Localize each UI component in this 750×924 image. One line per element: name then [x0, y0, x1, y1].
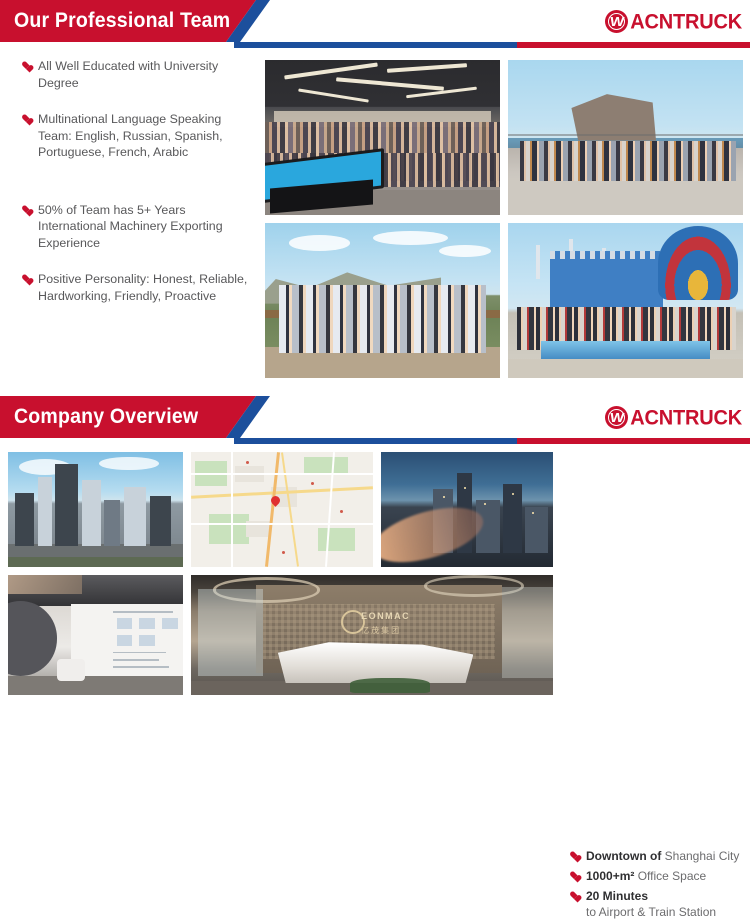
fact-sub: to Airport & Train Station — [586, 904, 716, 920]
acntruck-logo: W ACNTRUCK — [605, 406, 742, 429]
shanghai-skyline-daytime-photo — [8, 452, 183, 567]
team-section-title: Our Professional Team — [14, 0, 230, 42]
company-reception-lobby-photo: EONMAC 亿茂集团 — [191, 575, 553, 695]
company-section-title: Company Overview — [14, 396, 198, 438]
banner-rule-red — [517, 42, 750, 48]
list-item-label: All Well Educated with University Degree — [38, 58, 250, 91]
list-item: All Well Educated with University Degree — [22, 58, 250, 91]
team-group-seaside-rock-photo — [508, 60, 743, 215]
list-item: 50% of Team has 5+ Years International M… — [22, 202, 250, 252]
heart-bullet-icon — [570, 872, 579, 881]
team-photo-grid — [265, 60, 743, 385]
fact-lead: 20 Minutes — [586, 889, 648, 903]
heart-bullet-icon — [570, 852, 579, 861]
company-showroom-interior-photo — [8, 575, 183, 695]
list-item: Positive Personality: Honest, Reliable, … — [22, 271, 250, 304]
list-item: Downtown of Shanghai City — [570, 848, 748, 864]
list-item: Multinational Language Speaking Team: En… — [22, 111, 250, 161]
team-group-theme-park-photo — [508, 223, 743, 378]
company-overview-section: Company Overview W ACNTRUCK — [0, 396, 750, 448]
team-group-mountain-deck-photo — [265, 223, 500, 378]
acntruck-emblem-icon: W — [605, 10, 628, 33]
heart-bullet-icon — [22, 275, 31, 284]
office-location-map-photo — [191, 452, 373, 567]
emblem-letter: W — [609, 15, 625, 28]
banner-rule-gap — [0, 42, 234, 48]
team-bullet-list: All Well Educated with University Degree… — [22, 58, 250, 324]
eonmac-brand-name: EONMAC — [361, 611, 410, 621]
banner-rule-red — [517, 438, 750, 444]
acntruck-logo-text: ACNTRUCK — [630, 407, 742, 428]
acntruck-emblem-icon: W — [605, 406, 628, 429]
heart-bullet-icon — [22, 115, 31, 124]
list-item-label: 50% of Team has 5+ Years International M… — [38, 202, 250, 252]
fact-rest: Office Space — [638, 869, 706, 883]
fact-lead: 1000+m² — [586, 869, 638, 883]
heart-bullet-icon — [22, 206, 31, 215]
list-item-label: 20 Minutesto Airport & Train Station — [586, 888, 716, 920]
list-item: 1000+m² Office Space — [570, 868, 748, 884]
acntruck-logo-text: ACNTRUCK — [630, 11, 742, 32]
eonmac-brand-name-cn: 亿茂集团 — [361, 625, 401, 636]
company-photo-grid: EONMAC 亿茂集团 — [8, 452, 553, 697]
team-group-office-pool-table-photo — [265, 60, 500, 215]
company-facts-list: Downtown of Shanghai City 1000+m² Office… — [570, 848, 748, 924]
fact-rest: Shanghai City — [665, 849, 740, 863]
list-item-label: Positive Personality: Honest, Reliable, … — [38, 271, 250, 304]
acntruck-logo: W ACNTRUCK — [605, 10, 742, 33]
emblem-letter: W — [609, 411, 625, 424]
company-section-banner: Company Overview W ACNTRUCK — [0, 396, 750, 448]
list-item-label: Multinational Language Speaking Team: En… — [38, 111, 250, 161]
banner-rule — [0, 42, 750, 48]
shanghai-skyline-night-highway-photo — [381, 452, 553, 567]
banner-rule — [0, 438, 750, 444]
list-item-label: Downtown of Shanghai City — [586, 848, 739, 864]
fact-lead: Downtown of — [586, 849, 665, 863]
list-item-label: 1000+m² Office Space — [586, 868, 706, 884]
team-section-banner: Our Professional Team W ACNTRUCK — [0, 0, 750, 52]
heart-bullet-icon — [570, 892, 579, 901]
banner-rule-gap — [0, 438, 234, 444]
banner-rule-blue — [234, 438, 517, 444]
banner-rule-blue — [234, 42, 517, 48]
list-item: 20 Minutesto Airport & Train Station — [570, 888, 748, 920]
heart-bullet-icon — [22, 62, 31, 71]
